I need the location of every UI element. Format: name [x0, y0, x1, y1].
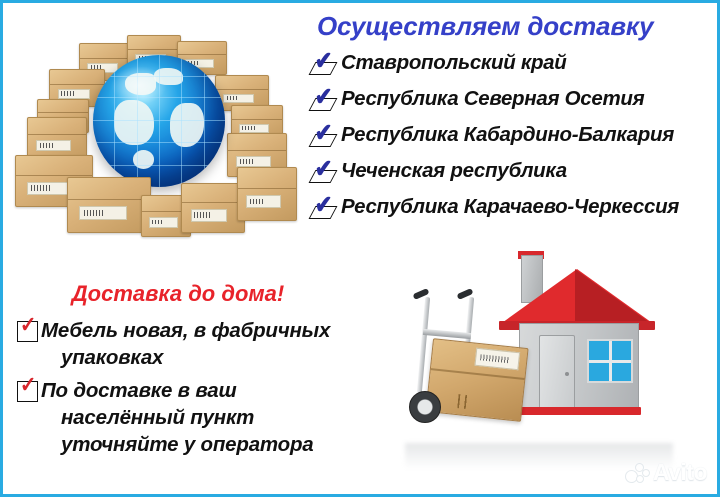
feature-line: уточняйте у оператора: [41, 431, 314, 458]
cargo-parcel-box: [425, 338, 528, 422]
blue-check-3d-icon: ✔: [309, 158, 339, 184]
blue-check-3d-icon: ✔: [309, 86, 339, 112]
red-check-square-icon: ✓: [17, 321, 38, 342]
home-delivery-panel: Доставка до дома! ✓ Мебель новая, в фабр…: [17, 281, 397, 464]
feature-line: По доставке в ваш: [41, 379, 236, 402]
home-delivery-features-list: ✓ Мебель новая, в фабричных упаковках ✓ …: [17, 317, 397, 458]
page-title: Осуществляем доставку: [317, 11, 717, 42]
feature-text: По доставке в ваш населённый пункт уточн…: [41, 377, 314, 458]
house-icon: [503, 263, 651, 415]
feature-line: Мебель новая, в фабричных: [41, 319, 330, 342]
feature-line: упаковках: [41, 344, 330, 371]
house-door-icon: [539, 335, 575, 411]
feature-line: населённый пункт: [41, 404, 314, 431]
watermark-label: Avito: [653, 459, 707, 486]
avito-watermark: Avito: [625, 459, 707, 486]
blue-check-3d-icon: ✔: [309, 194, 339, 220]
list-item: ✓ Мебель новая, в фабричных упаковках: [17, 317, 397, 371]
delivery-regions-panel: Осуществляем доставку ✔ Ставропольский к…: [309, 9, 717, 225]
parcel-box: [237, 167, 297, 221]
house-window-icon: [587, 339, 633, 383]
list-item: ✔ Ставропольский край: [309, 45, 717, 81]
red-check-square-icon: ✓: [17, 381, 38, 402]
feature-text: Мебель новая, в фабричных упаковках: [41, 317, 330, 371]
parcel-box: [67, 177, 151, 233]
list-item: ✔ Республика Карачаево-Черкессия: [309, 189, 717, 225]
house-and-hand-truck-illustration: [395, 235, 713, 475]
region-label: Республика Кабардино-Балкария: [341, 123, 674, 147]
region-label: Чеченская республика: [341, 159, 567, 183]
list-item: ✓ По доставке в ваш населённый пункт уто…: [17, 377, 397, 458]
parcel-box: [181, 183, 245, 233]
list-item: ✔ Республика Кабардино-Балкария: [309, 117, 717, 153]
hand-truck-icon: [403, 291, 513, 421]
region-label: Ставропольский край: [341, 51, 567, 75]
blue-check-3d-icon: ✔: [309, 50, 339, 76]
globe-with-parcels-illustration: [9, 7, 307, 265]
region-label: Республика Северная Осетия: [341, 87, 644, 111]
list-item: ✔ Чеченская республика: [309, 153, 717, 189]
delivery-ad-card: Осуществляем доставку ✔ Ставропольский к…: [0, 0, 720, 497]
globe-icon: [93, 55, 225, 187]
home-delivery-heading: Доставка до дома!: [17, 281, 397, 307]
list-item: ✔ Республика Северная Осетия: [309, 81, 717, 117]
blue-check-3d-icon: ✔: [309, 122, 339, 148]
region-label: Республика Карачаево-Черкессия: [341, 195, 679, 219]
avito-dots-logo-icon: [625, 463, 649, 483]
delivery-regions-list: ✔ Ставропольский край ✔ Республика Север…: [309, 45, 717, 225]
